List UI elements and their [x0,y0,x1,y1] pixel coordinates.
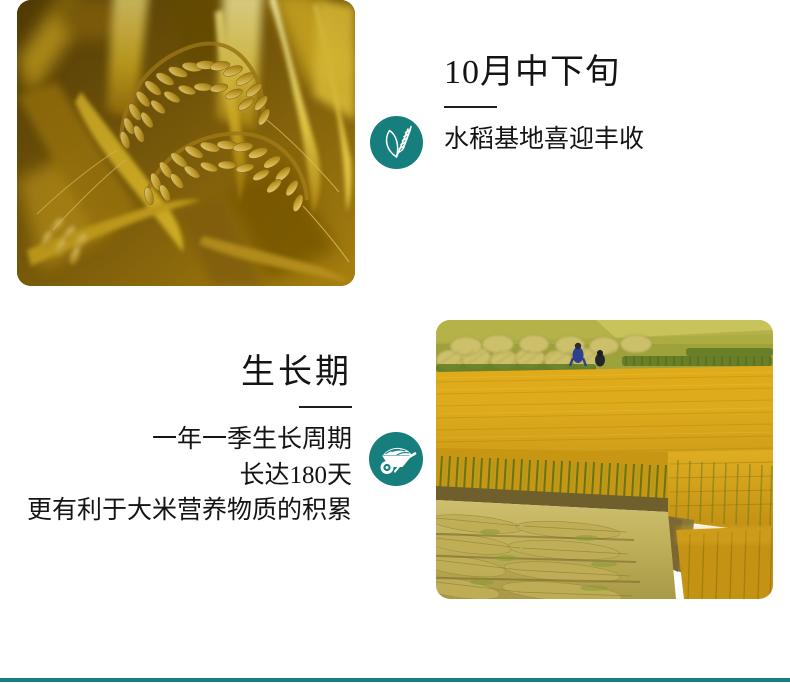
photo-rice-stalks-art [17,0,355,286]
photo-rice-field [436,320,773,599]
growth-divider [299,406,352,408]
harvest-divider [444,106,497,108]
rice-stalks-illustration [17,0,355,286]
harvest-title: 10月中下旬 [444,56,644,90]
harvest-subtitle: 水稻基地喜迎丰收 [444,122,644,158]
growth-subtitle-line-3: 更有利于大米营养物质的积累 [27,493,352,529]
page-root: 10月中下旬 水稻基地喜迎丰收 生长期 一年一季生长周期 [0,0,790,684]
growth-subtitle-line-2: 长达180天 [27,458,352,494]
growth-title: 生长期 [27,356,352,390]
wheelbarrow-icon-badge [369,432,423,486]
wheelbarrow-icon [375,438,417,480]
footer-accent-bar [0,678,790,682]
growth-text-block: 生长期 一年一季生长周期 长达180天 更有利于大米营养物质的积累 [27,356,352,529]
rice-field-illustration [436,320,773,599]
photo-rice-field-art [436,320,773,599]
leaf-icon-badge [370,116,423,169]
growth-subtitle-line-1: 一年一季生长周期 [27,422,352,458]
harvest-text-block: 10月中下旬 水稻基地喜迎丰收 [444,56,644,158]
photo-rice-stalks [17,0,355,286]
leaf-icon [377,123,417,163]
